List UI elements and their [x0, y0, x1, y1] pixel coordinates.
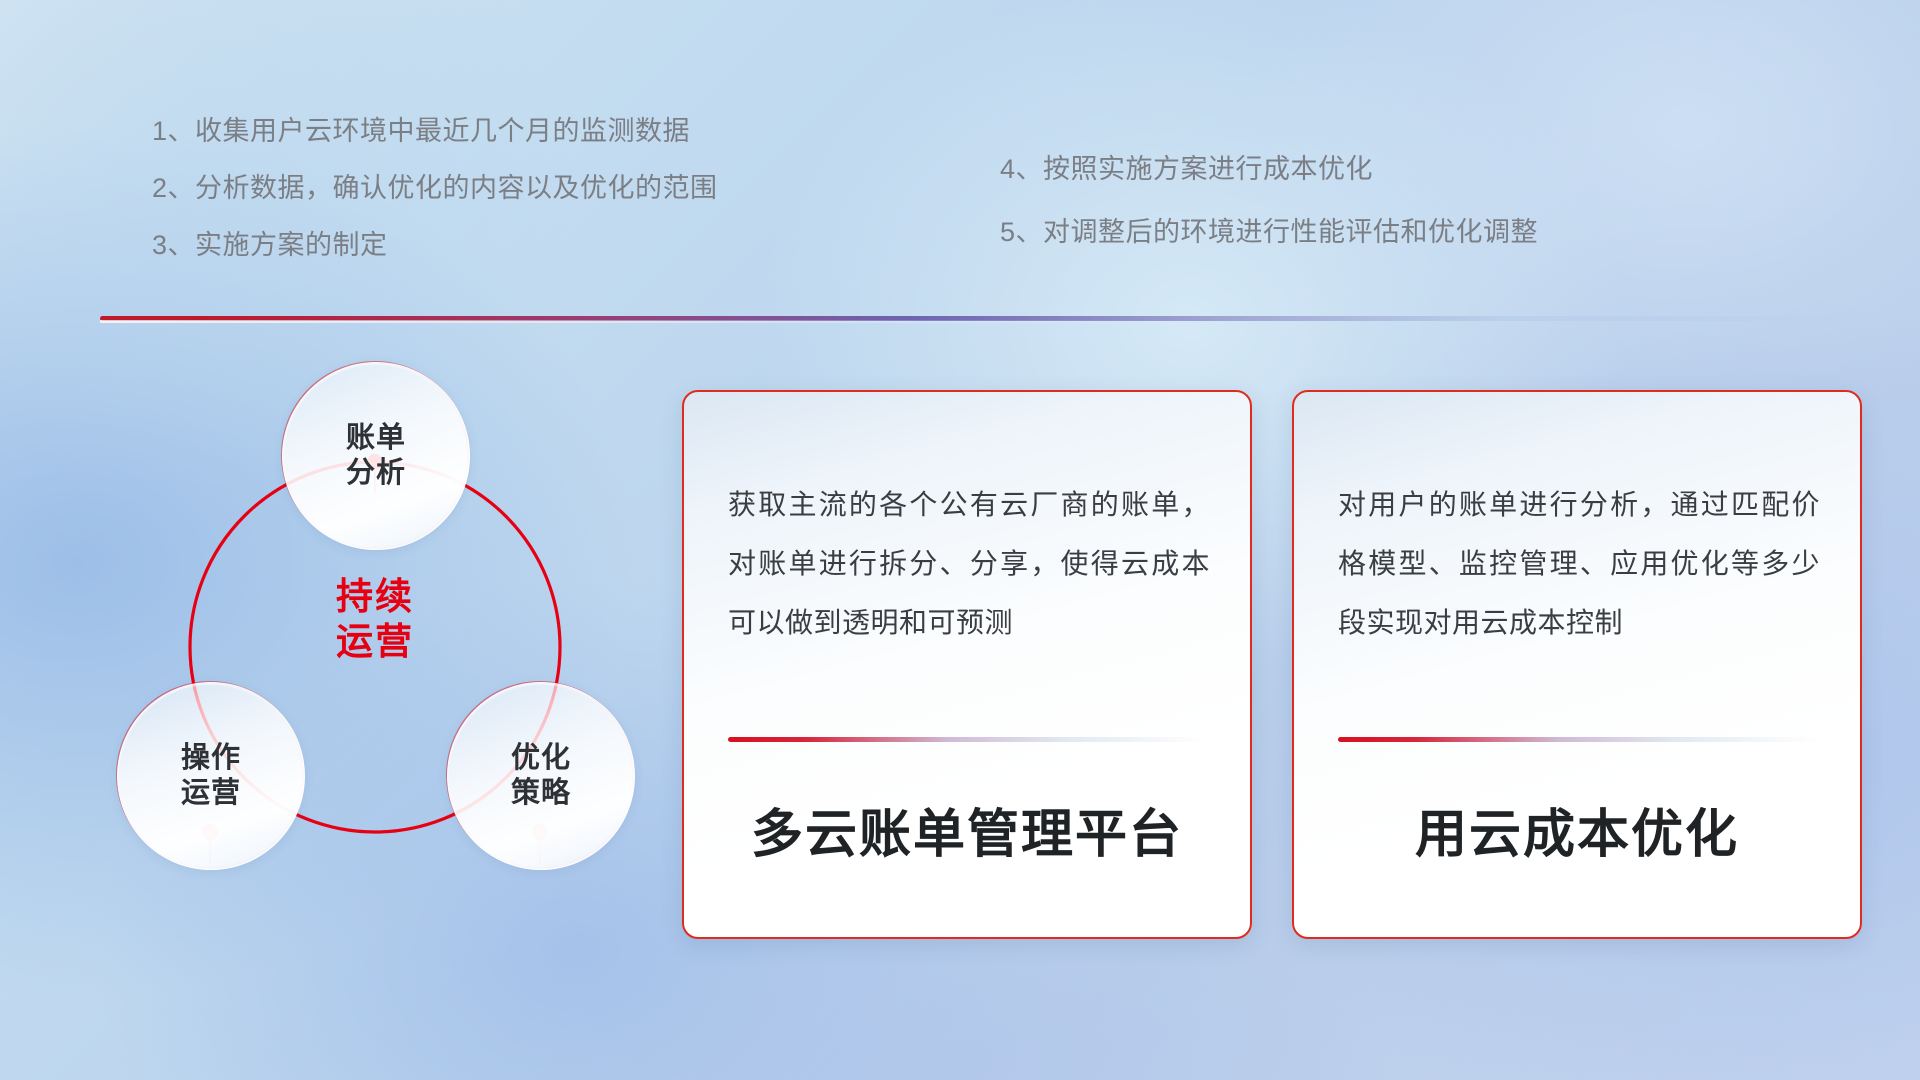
- steps-column-right: 4、按照实施方案进行成本优化 5、对调整后的环境进行性能评估和优化调整: [1000, 156, 1538, 282]
- bubble-billing-analysis[interactable]: 账单 分析: [282, 362, 470, 550]
- step-item-3: 3、实施方案的制定: [152, 232, 718, 259]
- card-2-rule: [1338, 737, 1818, 742]
- card-1-title: 多云账单管理平台: [684, 792, 1250, 867]
- diagram-center-label: 持续 运营: [275, 574, 475, 664]
- bubble-optimization-strategy[interactable]: 优化 策略: [447, 682, 635, 870]
- bubble-operations[interactable]: 操作 运营: [117, 682, 305, 870]
- bubble-operations-line2: 运营: [181, 777, 241, 809]
- card-2-body: 对用户的账单进行分析，通过匹配价格模型、监控管理、应用优化等多少段实现对用云成本…: [1338, 476, 1820, 652]
- card-cloud-cost-optimization[interactable]: 对用户的账单进行分析，通过匹配价格模型、监控管理、应用优化等多少段实现对用云成本…: [1292, 390, 1862, 939]
- steps-section: 1、收集用户云环境中最近几个月的监测数据 2、分析数据，确认优化的内容以及优化的…: [0, 0, 1920, 300]
- card-2-title: 用云成本优化: [1294, 792, 1860, 867]
- center-label-line2: 运营: [275, 619, 475, 664]
- bubble-optimization-strategy-line1: 优化: [511, 742, 571, 774]
- bubble-operations-line1: 操作: [181, 742, 241, 774]
- card-1-rule: [728, 737, 1208, 742]
- continuous-operation-diagram: 账单 分析 操作 运营 优化 策略 持续 运营: [95, 352, 655, 952]
- step-item-2: 2、分析数据，确认优化的内容以及优化的范围: [152, 175, 718, 202]
- steps-column-left: 1、收集用户云环境中最近几个月的监测数据 2、分析数据，确认优化的内容以及优化的…: [152, 118, 718, 289]
- bubble-billing-analysis-line2: 分析: [346, 457, 406, 489]
- card-multi-cloud-billing-platform[interactable]: 获取主流的各个公有云厂商的账单，对账单进行拆分、分享，使得云成本可以做到透明和可…: [682, 390, 1252, 939]
- step-item-4: 4、按照实施方案进行成本优化: [1000, 156, 1538, 183]
- bubble-optimization-strategy-line2: 策略: [511, 777, 571, 809]
- section-divider: [100, 316, 1860, 321]
- bubble-billing-analysis-line1: 账单: [346, 422, 406, 454]
- card-1-body: 获取主流的各个公有云厂商的账单，对账单进行拆分、分享，使得云成本可以做到透明和可…: [728, 476, 1210, 652]
- center-label-line1: 持续: [275, 574, 475, 619]
- step-item-5: 5、对调整后的环境进行性能评估和优化调整: [1000, 219, 1538, 246]
- step-item-1: 1、收集用户云环境中最近几个月的监测数据: [152, 118, 718, 145]
